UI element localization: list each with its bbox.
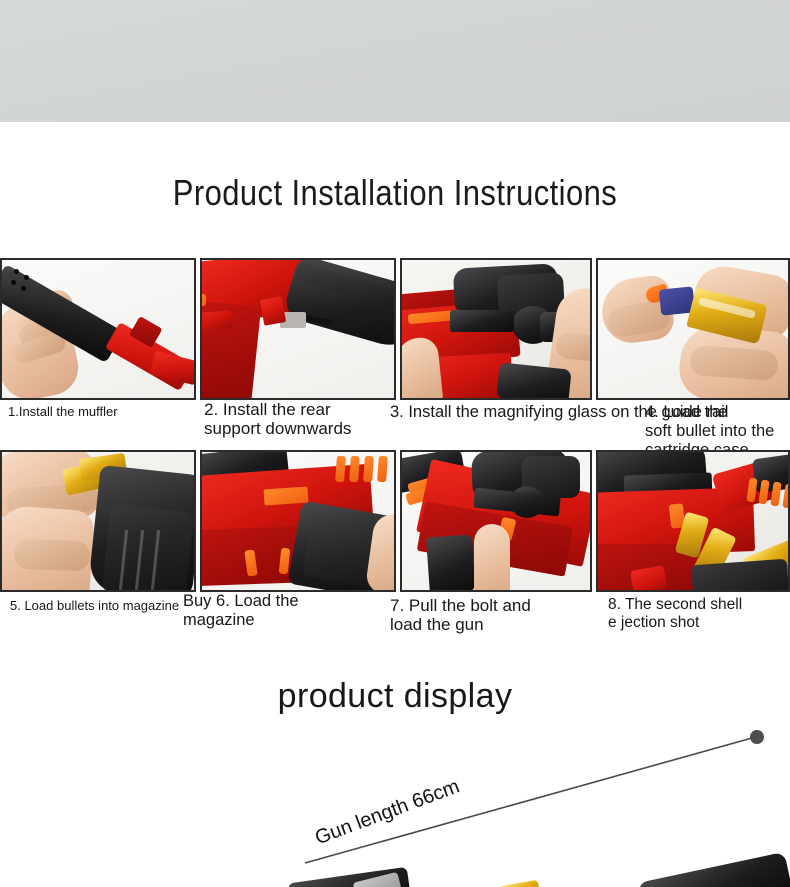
steps-row-1: 1.Install the muffler 2. Install the rea…	[0, 258, 790, 444]
step-8-photo	[596, 450, 790, 592]
page-title: Product Installation Instructions	[55, 172, 734, 214]
step-6-photo	[200, 450, 396, 592]
measure-endpoint-dot	[750, 730, 764, 744]
step-1-photo	[0, 258, 196, 400]
step-6-caption: Buy 6. Load the magazine	[183, 592, 383, 630]
measure-line	[305, 738, 752, 863]
product-display-heading: product display	[0, 676, 790, 716]
step-3-photo	[400, 258, 592, 400]
steps-row-2-photos	[0, 450, 790, 592]
step-5-photo	[0, 450, 196, 592]
step-7-photo	[400, 450, 592, 592]
step-1-caption: 1.Install the muffler	[8, 404, 188, 420]
step-8-caption: 8. The second shell e jection shot	[608, 596, 790, 632]
steps-row-1-captions: 1.Install the muffler 2. Install the rea…	[0, 400, 790, 444]
steps-row-2: 5. Load bullets into magazine Buy 6. Loa…	[0, 450, 790, 636]
step-5-caption: 5. Load bullets into magazine	[10, 598, 210, 614]
step-2-photo	[200, 258, 396, 400]
step-7-caption: 7. Pull the bolt and load the gun	[390, 596, 590, 634]
steps-row-2-captions: 5. Load bullets into magazine Buy 6. Loa…	[0, 592, 790, 636]
top-gray-band	[0, 0, 790, 122]
step-4-photo	[596, 258, 790, 400]
steps-row-1-photos	[0, 258, 790, 400]
step-2-caption: 2. Install the rear support downwards	[204, 400, 394, 438]
installation-steps: 1.Install the muffler 2. Install the rea…	[0, 258, 790, 636]
